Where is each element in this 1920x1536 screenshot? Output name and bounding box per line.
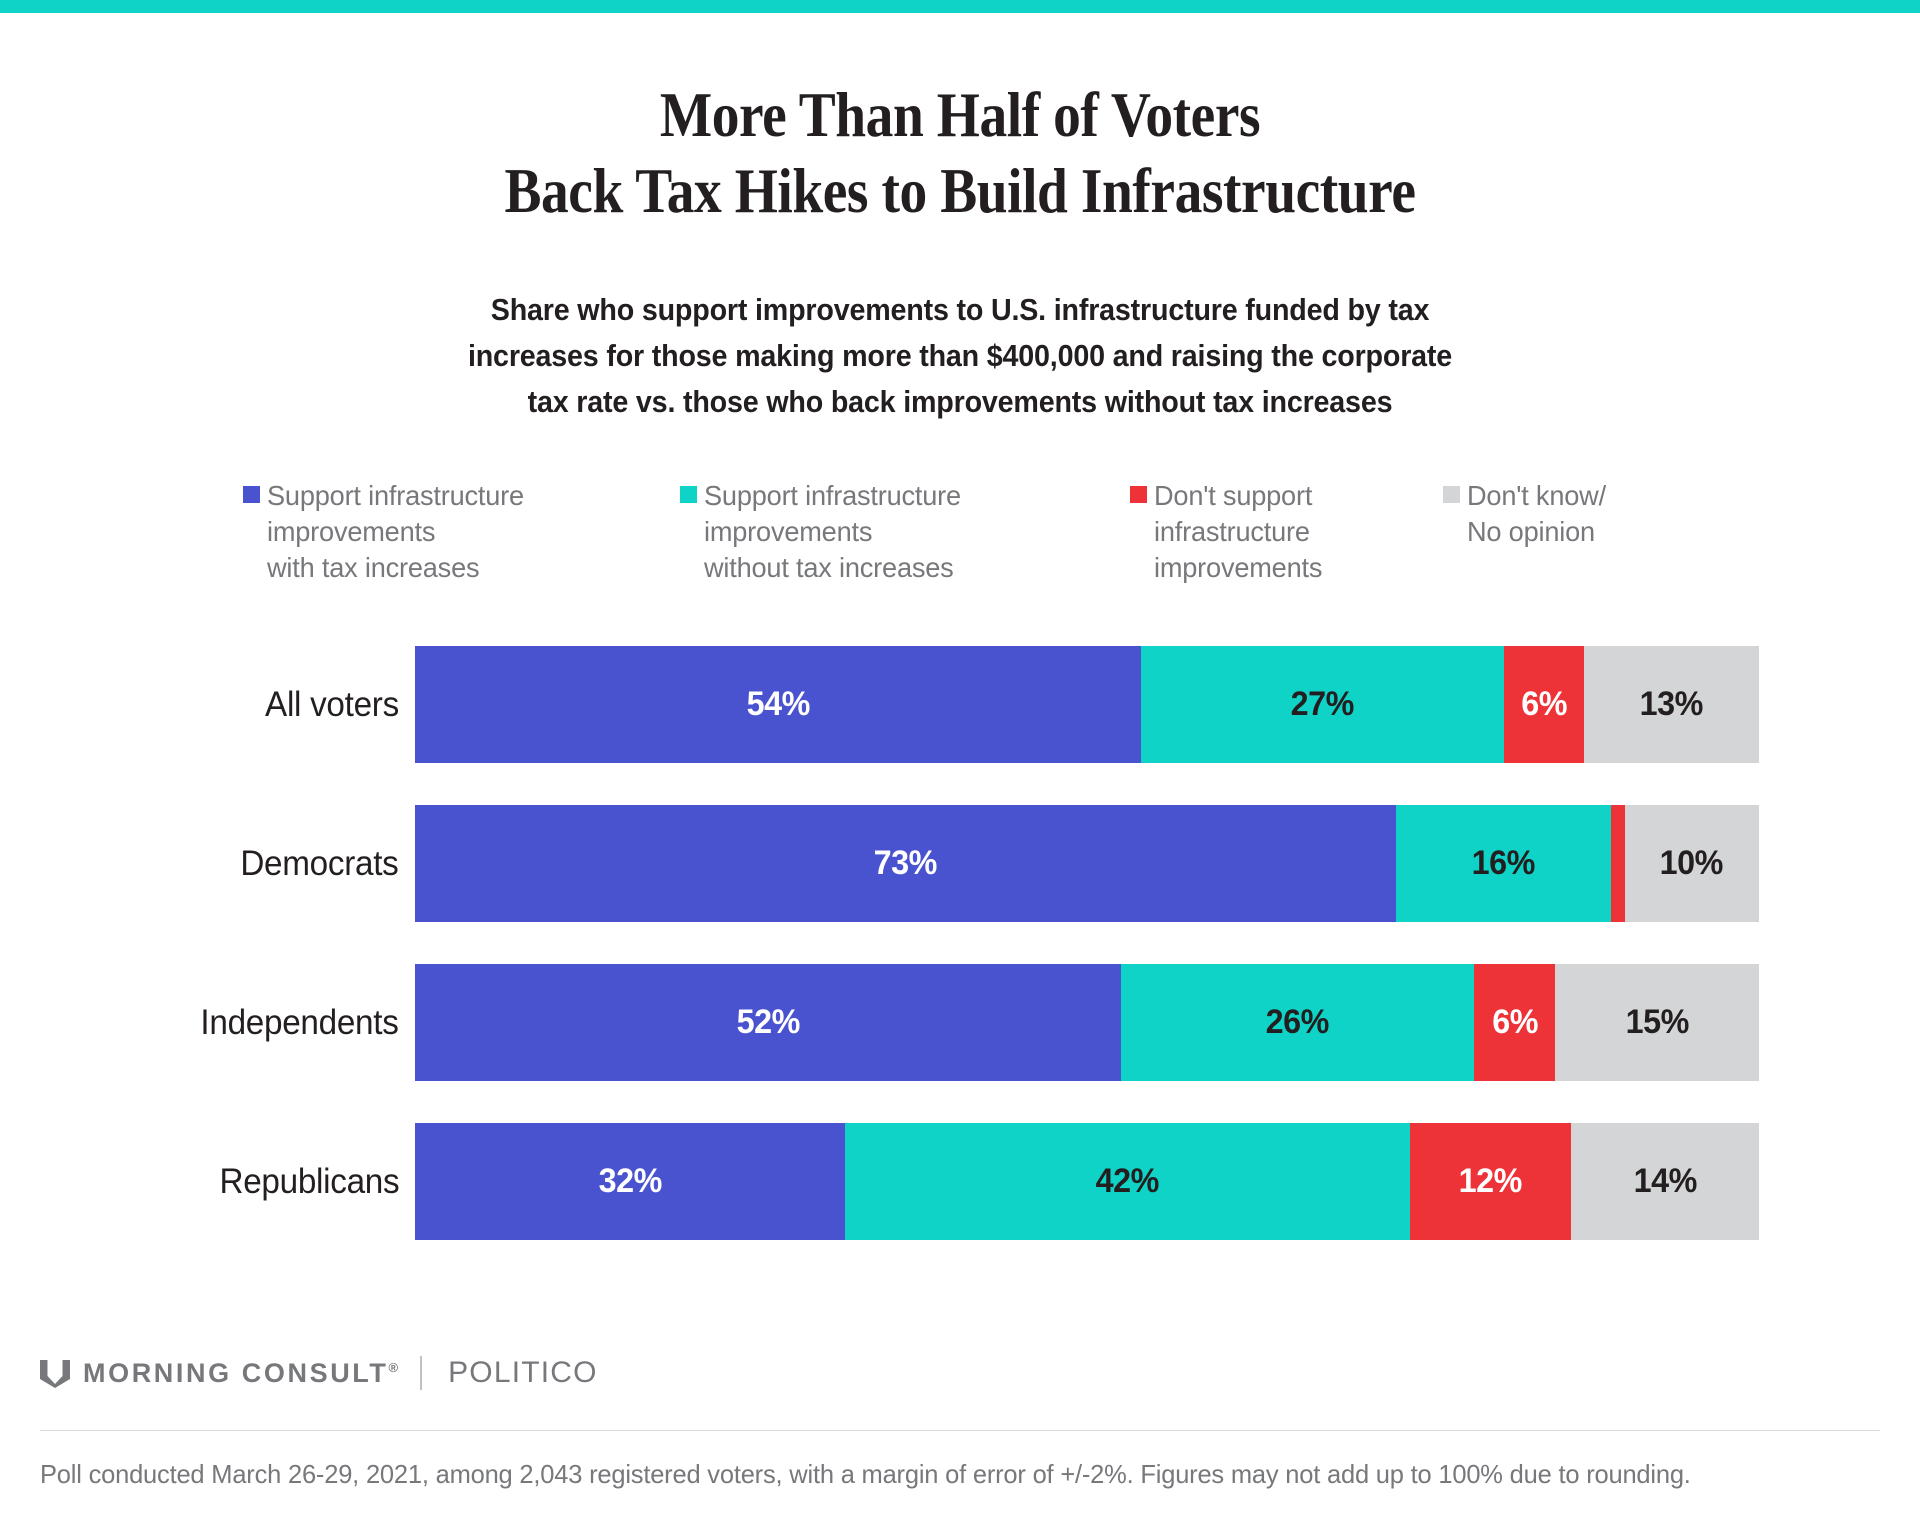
- bar-segment[interactable]: 42%: [845, 1123, 1409, 1240]
- footnote-text: Poll conducted March 26-29, 2021, among …: [40, 1459, 1843, 1490]
- bar-segment-value: 13%: [1640, 685, 1703, 724]
- subtitle-line-2: increases for those making more than $40…: [354, 334, 1567, 380]
- bar-segment[interactable]: 26%: [1121, 964, 1474, 1081]
- legend-item-1[interactable]: Support infrastructure improvements with…: [243, 478, 680, 585]
- bar-segment[interactable]: 73%: [415, 805, 1396, 922]
- bar-segment[interactable]: 13%: [1584, 646, 1759, 763]
- bar-track: 73%16%10%: [415, 805, 1759, 922]
- title-line-1: More Than Half of Voters: [115, 78, 1805, 154]
- legend-item-label: Support infrastructure improvements with…: [704, 478, 961, 585]
- bar-row: Independents52%26%6%15%: [0, 964, 1920, 1081]
- category-label: Republicans: [219, 1123, 399, 1240]
- bar-segment[interactable]: 14%: [1571, 1123, 1759, 1240]
- bar-segment[interactable]: 6%: [1474, 964, 1555, 1081]
- legend-item-4[interactable]: Don't know/ No opinion: [1443, 478, 1723, 550]
- bar-segment[interactable]: 32%: [415, 1123, 845, 1240]
- bar-segment[interactable]: 52%: [415, 964, 1121, 1081]
- footer-branding: MORNING CONSULT® POLITICO: [40, 1356, 598, 1390]
- bar-segment-value: 6%: [1521, 685, 1567, 724]
- brand-divider: [420, 1356, 422, 1390]
- bar-segment-value: 32%: [598, 1162, 661, 1201]
- subtitle-line-1: Share who support improvements to U.S. i…: [354, 288, 1567, 334]
- bar-segment-value: 10%: [1660, 844, 1723, 883]
- morning-consult-text: MORNING CONSULT: [83, 1358, 388, 1388]
- bar-segment[interactable]: 6%: [1504, 646, 1585, 763]
- legend-swatch-icon: [243, 486, 260, 503]
- category-label: Independents: [201, 964, 399, 1081]
- top-accent-band: [0, 0, 1920, 13]
- bar-segment[interactable]: 10%: [1625, 805, 1759, 922]
- chart-title: More Than Half of Voters Back Tax Hikes …: [0, 78, 1920, 229]
- bar-row: Democrats73%16%10%: [0, 805, 1920, 922]
- title-line-2: Back Tax Hikes to Build Infrastructure: [115, 154, 1805, 230]
- bar-segment[interactable]: 15%: [1555, 964, 1759, 1081]
- bar-segment[interactable]: 12%: [1410, 1123, 1571, 1240]
- chart-legend: Support infrastructure improvements with…: [243, 478, 1723, 585]
- bar-track: 54%27%6%13%: [415, 646, 1759, 763]
- bar-segment-value: 6%: [1492, 1003, 1538, 1042]
- category-label: All voters: [265, 646, 399, 763]
- bar-segment[interactable]: [1611, 805, 1624, 922]
- legend-swatch-icon: [1130, 486, 1147, 503]
- bar-segment-value: 14%: [1633, 1162, 1696, 1201]
- bar-segment-value: 27%: [1291, 685, 1354, 724]
- bar-row: All voters54%27%6%13%: [0, 646, 1920, 763]
- legend-item-label: Don't know/ No opinion: [1467, 478, 1606, 550]
- bar-segment-value: 42%: [1096, 1162, 1159, 1201]
- bar-row: Republicans32%42%12%14%: [0, 1123, 1920, 1240]
- legend-item-2[interactable]: Support infrastructure improvements with…: [680, 478, 1130, 585]
- bar-segment-value: 73%: [874, 844, 937, 883]
- bar-track: 32%42%12%14%: [415, 1123, 1759, 1240]
- legend-item-label: Support infrastructure improvements with…: [267, 478, 524, 585]
- morning-consult-logo-icon: [40, 1358, 70, 1388]
- bar-segment-value: 12%: [1459, 1162, 1522, 1201]
- bar-segment[interactable]: 16%: [1396, 805, 1611, 922]
- morning-consult-wordmark: MORNING CONSULT®: [83, 1358, 398, 1389]
- bar-segment-value: 16%: [1472, 844, 1535, 883]
- bar-segment-value: 26%: [1266, 1003, 1329, 1042]
- bar-segment[interactable]: 54%: [415, 646, 1141, 763]
- legend-item-label: Don't support infrastructure improvement…: [1154, 478, 1322, 585]
- legend-swatch-icon: [1443, 486, 1460, 503]
- subtitle-line-3: tax rate vs. those who back improvements…: [354, 380, 1567, 426]
- category-label: Democrats: [241, 805, 399, 922]
- registered-mark: ®: [388, 1360, 398, 1375]
- stacked-bar-chart: All voters54%27%6%13%Democrats73%16%10%I…: [0, 646, 1920, 1282]
- bar-track: 52%26%6%15%: [415, 964, 1759, 1081]
- footer-divider-rule: [40, 1430, 1880, 1431]
- bar-segment-value: 54%: [746, 685, 809, 724]
- bar-segment-value: 52%: [736, 1003, 799, 1042]
- legend-swatch-icon: [680, 486, 697, 503]
- bar-segment-value: 15%: [1626, 1003, 1689, 1042]
- legend-item-3[interactable]: Don't support infrastructure improvement…: [1130, 478, 1443, 585]
- bar-segment[interactable]: 27%: [1141, 646, 1504, 763]
- politico-wordmark: POLITICO: [448, 1356, 598, 1390]
- chart-subtitle: Share who support improvements to U.S. i…: [315, 288, 1605, 425]
